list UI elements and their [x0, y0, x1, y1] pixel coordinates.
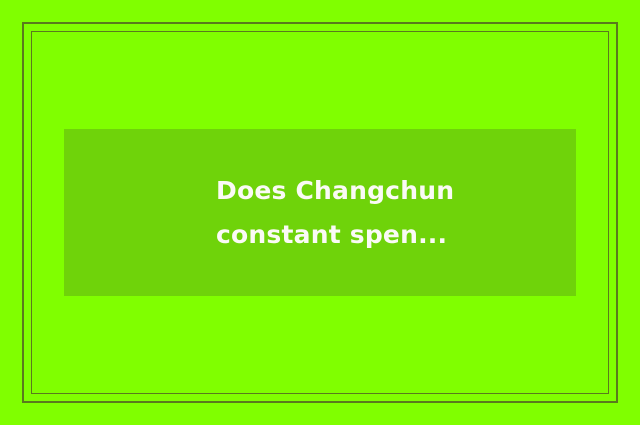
- placeholder-image-canvas: Does Changchun constant spen...: [0, 0, 640, 425]
- caption-panel: Does Changchun constant spen...: [64, 129, 576, 296]
- caption-line-1: Does Changchun: [216, 169, 454, 213]
- caption-line-2: constant spen...: [216, 213, 447, 257]
